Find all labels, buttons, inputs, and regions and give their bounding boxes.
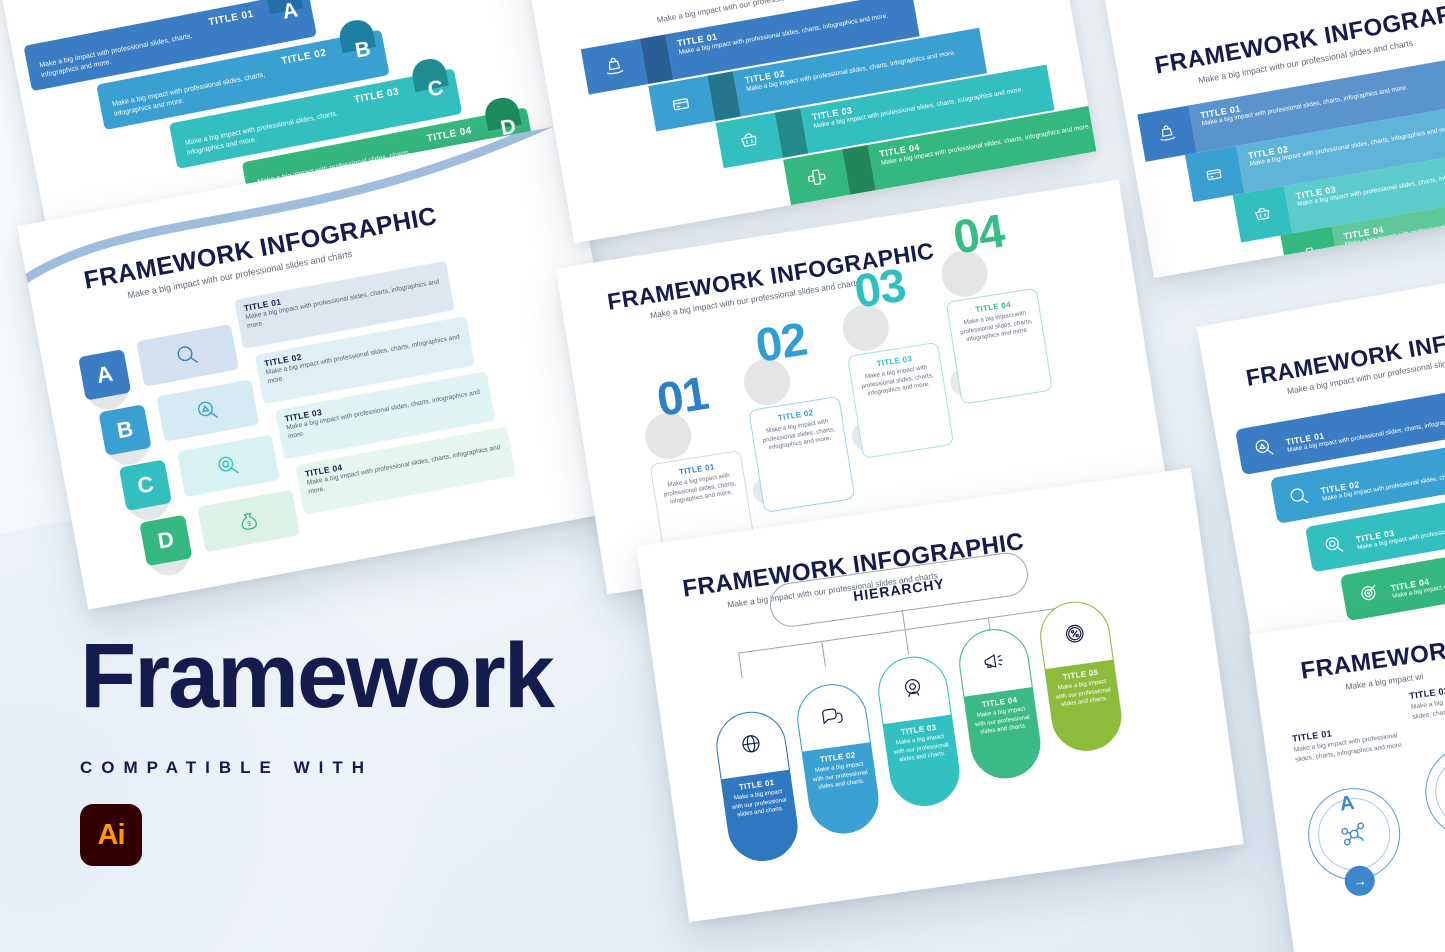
step-card[interactable]: TITLE 02 Make a big impact with professi… [748,396,855,513]
slide-magnifier-list[interactable]: FRAMEWORK INFOGRAPHIC Make a big impact … [1197,254,1445,652]
step-number: 03 [851,257,909,319]
target-person-icon [875,653,951,724]
mobile-cart-icon [1280,227,1340,279]
hierarchy-node[interactable]: TITLE 01 Make a big impact with our prof… [712,707,802,865]
hierarchy-node-text: TITLE 02 Make a big impact with our prof… [803,742,882,837]
hierarchy-node[interactable]: TITLE 05 Make a big impact with our prof… [1036,597,1126,755]
list-item-text: TITLE 01 Make a big impact with professi… [1280,396,1445,457]
abcd-badge[interactable]: C [119,459,172,511]
magnifier-icon [136,324,239,387]
abcd-badge[interactable]: A [78,349,131,401]
circle-step-ring[interactable]: $ [1419,739,1445,843]
slide-arrow-bands[interactable]: FRAMEWORK INFOGRAPHIC Make a big impact … [1093,0,1445,278]
circle-step-letter: A [1338,792,1356,817]
payment-card-icon [648,76,715,132]
megaphone-icon [956,626,1032,697]
money-flow-icon: $ [1431,751,1445,832]
chat-bubble-icon [794,681,870,752]
connector-line [738,653,743,679]
magnifier-gear-icon [177,434,280,497]
connector-line [821,641,826,667]
money-bag-icon: $ [197,490,300,553]
step-number: 01 [653,365,711,427]
hierarchy-node[interactable]: TITLE 02 Make a big impact with our prof… [793,680,883,838]
page-title: Framework [80,630,700,722]
step-number: 02 [752,311,810,373]
globe-icon [713,708,789,779]
magnifier-chart-icon [157,379,260,442]
node-body: Make a big impact with our professional … [729,787,790,821]
magnifier-gear-icon [1314,524,1356,566]
mobile-cart-icon [783,149,850,205]
hierarchy-node[interactable]: TITLE 03 Make a big impact with our prof… [874,652,964,810]
slide-hierarchy[interactable]: FRAMEWORK INFOGRAPHIC Make a big impact … [636,468,1243,922]
adobe-illustrator-icon[interactable]: Ai [80,804,142,866]
slide-circle-steps[interactable]: FRAMEWORK Make a big impact wi TITLE 01 … [1249,585,1445,952]
magnifier-chart-icon [1244,427,1286,469]
node-body: Make a big impact with our professional … [891,732,952,766]
step-card[interactable]: TITLE 03 Make a big impact with professi… [847,342,954,459]
connector-line [905,629,910,655]
magnifier-icon [1279,476,1321,518]
compatible-label: COMPATIBLE WITH [80,758,700,778]
hierarchy-node-text: TITLE 03 Make a big impact with our prof… [884,715,963,810]
connector-line [902,611,905,629]
hand-bag-icon [581,39,648,95]
hierarchy-node-text: TITLE 05 Make a big impact with our prof… [1045,660,1124,755]
node-body: Make a big impact with our professional … [1053,677,1114,711]
hierarchy-node[interactable]: TITLE 04 Make a big impact with our prof… [955,625,1045,783]
node-body: Make a big impact with our professional … [810,760,871,794]
shopping-basket-icon [716,113,783,169]
brand-block: Framework COMPATIBLE WITH Ai [80,630,700,866]
node-body: Make a big impact with our professional … [972,705,1033,739]
step-card[interactable]: TITLE 04 Make a big impact with professi… [946,288,1053,405]
abcd-badge[interactable]: D [139,515,192,567]
circle-step-text: TITLE 01 Make a big impact with professi… [1292,717,1415,764]
abcd-badge[interactable]: B [98,404,151,456]
step-number: 04 [949,202,1007,264]
svg-text:$: $ [247,521,252,529]
hierarchy-node-text: TITLE 01 Make a big impact with our prof… [722,770,801,865]
target-icon [1349,573,1391,615]
hierarchy-node-text: TITLE 04 Make a big impact with our prof… [964,687,1043,782]
